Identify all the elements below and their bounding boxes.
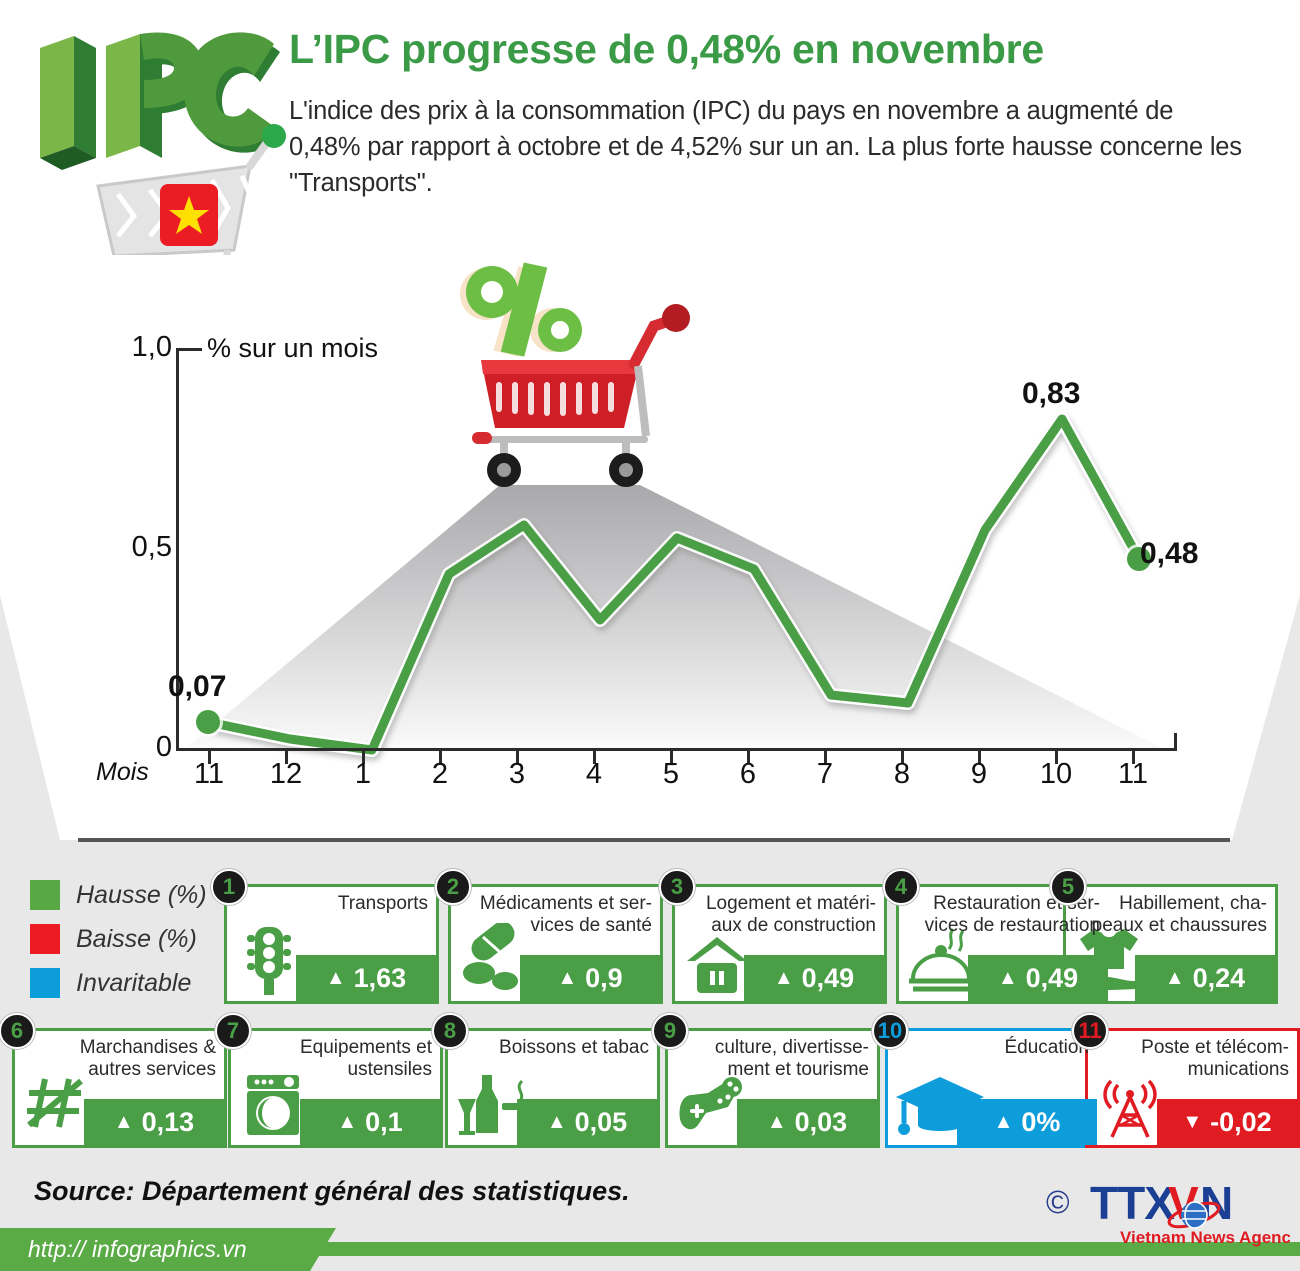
y-axis-top-tick <box>176 348 202 351</box>
card-value-text: 0,1 <box>365 1107 403 1138</box>
svg-text:TTX: TTX <box>1090 1177 1175 1229</box>
card-value-text: 1,63 <box>354 963 407 994</box>
legend-swatch-green <box>30 880 60 910</box>
card-title: Poste et télécom- munications <box>1104 1037 1289 1082</box>
card-number-badge: 4 <box>883 869 919 905</box>
ipc-logo <box>22 18 290 288</box>
traffic-light-icon <box>233 923 305 997</box>
card-value-text: 0,49 <box>1026 963 1079 994</box>
x-axis-title: Mois <box>96 758 149 787</box>
chart-baseline-rule <box>78 838 1230 842</box>
card-number-badge: 1 <box>211 869 247 905</box>
x-axis-end-cap <box>1174 733 1177 751</box>
card-poste-telecom[interactable]: 11 Poste et télécom- munications ▼ -0,02 <box>1085 1028 1300 1148</box>
card-title: Habillement, cha- peaux et chaussures <box>1082 893 1267 938</box>
legend-item-hausse: Hausse (%) <box>30 880 207 910</box>
arrow-up-icon: ▲ <box>337 1112 357 1132</box>
card-title: Boissons et tabac <box>464 1037 649 1059</box>
page-title: L’IPC progresse de 0,48% en novembre <box>289 28 1279 71</box>
card-value-text: 0,49 <box>802 963 855 994</box>
arrow-up-icon: ▲ <box>326 968 346 988</box>
arrow-up-icon: ▲ <box>774 968 794 988</box>
x-tick-label: 1 <box>333 758 393 791</box>
card-value-text: -0,02 <box>1210 1107 1272 1138</box>
arrow-up-icon: ▲ <box>994 1112 1014 1132</box>
x-tick-label: 11 <box>179 758 239 791</box>
card-value: ▲ 0,05 <box>517 1099 657 1145</box>
card-number-badge: 11 <box>1072 1013 1108 1049</box>
page-subtitle: L'indice des prix à la consommation (IPC… <box>289 93 1249 202</box>
arrow-up-icon: ▲ <box>998 968 1018 988</box>
card-number-badge: 5 <box>1050 869 1086 905</box>
chart: 1,0 0,5 0 % sur un mois Mois 11 12 1 2 3… <box>0 255 1300 815</box>
card-value: ▲ 0,9 <box>520 955 660 1001</box>
arrow-up-icon: ▲ <box>767 1112 787 1132</box>
card-marchandises[interactable]: 6 Marchandises & autres services ▲ 0,13 <box>12 1028 227 1148</box>
y-tick-label: 0,5 <box>92 531 172 564</box>
x-tick-label: 8 <box>872 758 932 791</box>
data-point-label-first: 0,07 <box>168 670 226 704</box>
arrow-down-icon: ▼ <box>1182 1112 1202 1132</box>
card-value-text: 0,13 <box>142 1107 195 1138</box>
legend-label: Hausse (%) <box>76 881 207 910</box>
legend-item-baisse: Baisse (%) <box>30 924 207 954</box>
website-url[interactable]: http:// infographics.vn <box>28 1236 247 1263</box>
card-value-text: 0,9 <box>585 963 623 994</box>
x-tick-label: 4 <box>564 758 624 791</box>
card-number-badge: 6 <box>0 1013 35 1049</box>
card-value: ▲ 1,63 <box>296 955 436 1001</box>
x-tick-label: 3 <box>487 758 547 791</box>
y-tick-label: 1,0 <box>92 331 172 364</box>
card-value-text: 0,05 <box>575 1107 628 1138</box>
shopping-cart-illustration <box>448 260 708 495</box>
legend-item-invariable: Invaritable <box>30 968 207 998</box>
x-tick-label: 12 <box>256 758 316 791</box>
svg-text:Vietnam News Agency: Vietnam News Agency <box>1120 1228 1290 1247</box>
legend-label: Invaritable <box>76 969 191 998</box>
legend-swatch-blue <box>30 968 60 998</box>
card-education[interactable]: 10 Éducation ▲ 0% <box>885 1028 1100 1148</box>
card-number-badge: 8 <box>432 1013 468 1049</box>
card-value: ▲ 0,13 <box>84 1099 224 1145</box>
card-number-badge: 9 <box>652 1013 688 1049</box>
x-tick-label: 10 <box>1026 758 1086 791</box>
copyright-symbol: © <box>1046 1184 1070 1221</box>
card-value: ▲ 0% <box>957 1099 1097 1145</box>
card-boissons[interactable]: 8 Boissons et tabac ▲ 0,05 <box>445 1028 660 1148</box>
card-title: Médicaments et ser- vices de santé <box>467 893 652 938</box>
x-tick-label: 9 <box>949 758 1009 791</box>
card-title: Logement et matéri- aux de construction <box>691 893 876 938</box>
card-value: ▼ -0,02 <box>1157 1099 1297 1145</box>
legend-label: Baisse (%) <box>76 925 197 954</box>
card-value-text: 0,24 <box>1193 963 1246 994</box>
card-value: ▲ 0,49 <box>968 955 1108 1001</box>
card-number-badge: 2 <box>435 869 471 905</box>
arrow-up-icon: ▲ <box>557 968 577 988</box>
axis-caption: % sur un mois <box>207 333 378 364</box>
card-value-text: 0,03 <box>795 1107 848 1138</box>
source-text: Source: Département général des statisti… <box>34 1176 630 1207</box>
arrow-up-icon: ▲ <box>1165 968 1185 988</box>
x-axis-line <box>176 748 1176 751</box>
x-tick-label: 11 <box>1103 758 1163 791</box>
data-point-label-peak: 0,83 <box>1022 377 1080 411</box>
card-transports[interactable]: 1 Transports ▲ 1,63 <box>224 884 439 1004</box>
card-logement[interactable]: 3 Logement et matéri- aux de constructio… <box>672 884 887 1004</box>
card-title: Éducation <box>904 1037 1089 1059</box>
legend: Hausse (%) Baisse (%) Invaritable <box>30 880 207 1012</box>
card-value: ▲ 0,49 <box>744 955 884 1001</box>
card-title: Equipements et ustensiles <box>247 1037 432 1082</box>
card-culture[interactable]: 9 culture, divertisse- ment et tourisme … <box>665 1028 880 1148</box>
infographic-page: L’IPC progresse de 0,48% en novembre L'i… <box>0 0 1300 1271</box>
card-number-badge: 7 <box>215 1013 251 1049</box>
x-tick-label: 7 <box>795 758 855 791</box>
data-point-label-last: 0,48 <box>1140 537 1198 571</box>
card-number-badge: 10 <box>872 1013 908 1049</box>
ttxvn-logo: TTX V N Vietnam News Agency <box>1090 1175 1290 1251</box>
card-value: ▲ 0,1 <box>300 1099 440 1145</box>
card-equipements[interactable]: 7 Equipements et ustensiles ▲ 0,1 <box>228 1028 443 1148</box>
x-tick-label: 5 <box>641 758 701 791</box>
card-medicaments[interactable]: 2 Médicaments et ser- vices de santé ▲ 0… <box>448 884 663 1004</box>
card-value-text: 0% <box>1021 1107 1060 1138</box>
arrow-up-icon: ▲ <box>547 1112 567 1132</box>
arrow-up-icon: ▲ <box>114 1112 134 1132</box>
x-tick-label: 6 <box>718 758 778 791</box>
card-title: culture, divertisse- ment et tourisme <box>684 1037 869 1082</box>
card-value: ▲ 0,24 <box>1135 955 1275 1001</box>
card-value: ▲ 0,03 <box>737 1099 877 1145</box>
card-number-badge: 3 <box>659 869 695 905</box>
x-tick-label: 2 <box>410 758 470 791</box>
legend-swatch-red <box>30 924 60 954</box>
card-title: Transports <box>243 893 428 915</box>
card-title: Marchandises & autres services <box>31 1037 216 1082</box>
